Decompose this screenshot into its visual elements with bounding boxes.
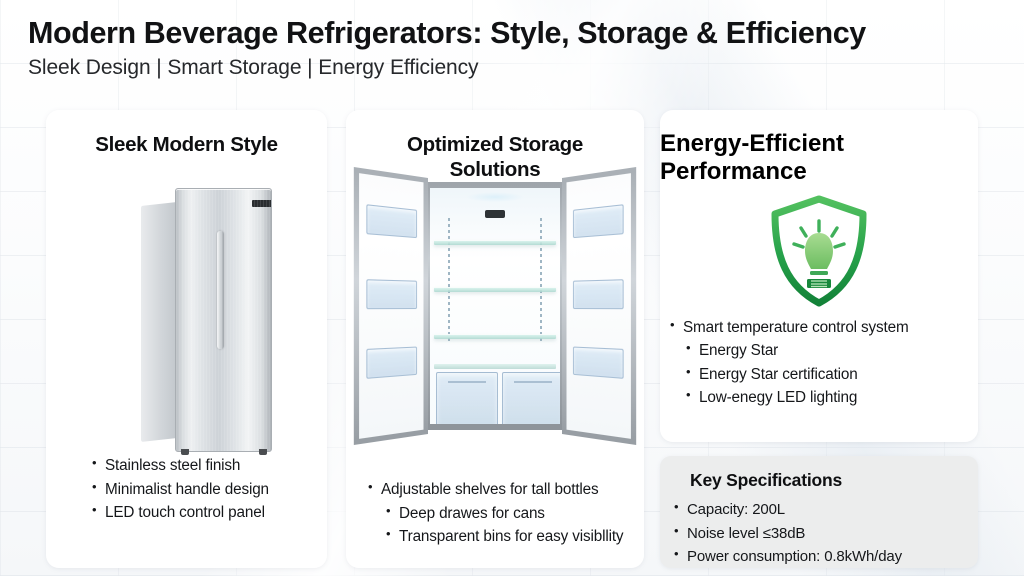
door-bin bbox=[366, 204, 417, 238]
header: Modern Beverage Refrigerators: Style, St… bbox=[28, 16, 866, 80]
shelf-rail-right bbox=[540, 218, 542, 343]
cards-row: Sleek Modern Style Stainless steel finis… bbox=[0, 110, 1024, 568]
door-bin bbox=[366, 279, 417, 309]
card-optimized-storage-solutions[interactable]: Optimized Storage Solutions bbox=[346, 110, 644, 568]
glass-shelf bbox=[434, 287, 556, 292]
column-energy-efficiency: Energy-Efficient Performance bbox=[660, 110, 978, 568]
specs-title: Key Specifications bbox=[690, 470, 978, 491]
card-energy-efficient-performance[interactable]: Energy-Efficient Performance bbox=[660, 110, 978, 442]
list-item: Capacity: 200L bbox=[674, 498, 978, 522]
card-1-bullet-list: Stainless steel finish Minimalist handle… bbox=[92, 454, 269, 524]
refrigerator-door-front bbox=[175, 188, 272, 452]
door-bin bbox=[366, 347, 417, 379]
refrigerator-cabinet bbox=[424, 182, 566, 430]
list-item: Energy Star certification bbox=[686, 363, 968, 386]
shelf-rail-left bbox=[448, 218, 450, 343]
list-item: Power consumption: 0.8kWh/day bbox=[674, 545, 978, 569]
refrigerator-door-left bbox=[354, 167, 428, 445]
list-item: Noise level ≤38dB bbox=[674, 522, 978, 546]
interior-light bbox=[466, 192, 523, 202]
air-vent bbox=[485, 210, 506, 218]
key-specifications-panel[interactable]: Key Specifications Capacity: 200L Noise … bbox=[660, 456, 978, 568]
energy-shield-icon bbox=[767, 195, 871, 307]
storage-drawer bbox=[502, 372, 564, 426]
list-item: Low-enegy LED lighting bbox=[686, 386, 968, 409]
card-2-bullet-list: Adjustable shelves for tall bottles Deep… bbox=[368, 478, 632, 548]
list-item: Transparent bins for easy visibllity bbox=[386, 525, 632, 548]
list-item: Adjustable shelves for tall bottles bbox=[368, 478, 632, 501]
list-item: Stainless steel finish bbox=[92, 454, 269, 477]
refrigerator-door-right bbox=[562, 167, 636, 445]
card-2-heading-line-1: Optimized Storage bbox=[407, 133, 583, 156]
door-bin bbox=[573, 204, 624, 238]
list-item: Deep drawes for cans bbox=[386, 502, 632, 525]
card-sleek-modern-style[interactable]: Sleek Modern Style Stainless steel finis… bbox=[46, 110, 327, 568]
card-3-bullet-list: Smart temperature control system Energy … bbox=[670, 316, 968, 409]
card-3-heading-line-1: Energy-Efficient bbox=[660, 130, 844, 157]
door-bin bbox=[573, 347, 624, 379]
list-item: Energy Star bbox=[686, 339, 968, 362]
glass-shelf bbox=[434, 334, 556, 339]
card-2-heading-line-2: Solutions bbox=[450, 158, 541, 181]
card-3-heading: Energy-Efficient Performance bbox=[660, 110, 978, 186]
glass-shelf bbox=[434, 240, 556, 245]
storage-drawer bbox=[436, 372, 498, 426]
specs-list: Capacity: 200L Noise level ≤38dB Power c… bbox=[674, 498, 978, 569]
refrigerator-brand-badge bbox=[252, 200, 272, 207]
card-1-heading: Sleek Modern Style bbox=[46, 110, 327, 157]
card-2-heading: Optimized Storage Solutions bbox=[346, 110, 644, 182]
list-item: Minimalist handle design bbox=[92, 478, 269, 501]
page-subtitle: Sleek Design | Smart Storage | Energy Ef… bbox=[28, 56, 866, 80]
drawer-cover-shelf bbox=[434, 364, 556, 369]
page-title: Modern Beverage Refrigerators: Style, St… bbox=[28, 16, 866, 51]
refrigerator-handle bbox=[217, 231, 224, 349]
card-3-heading-line-2: Performance bbox=[660, 158, 807, 185]
list-item: Smart temperature control system bbox=[670, 316, 968, 339]
refrigerator-side-panel bbox=[141, 202, 177, 442]
door-bin bbox=[573, 279, 624, 309]
open-refrigerator-icon bbox=[352, 182, 638, 432]
single-door-refrigerator-icon bbox=[141, 188, 276, 450]
shield-badge-wrap bbox=[660, 195, 978, 307]
list-item: LED touch control panel bbox=[92, 501, 269, 524]
